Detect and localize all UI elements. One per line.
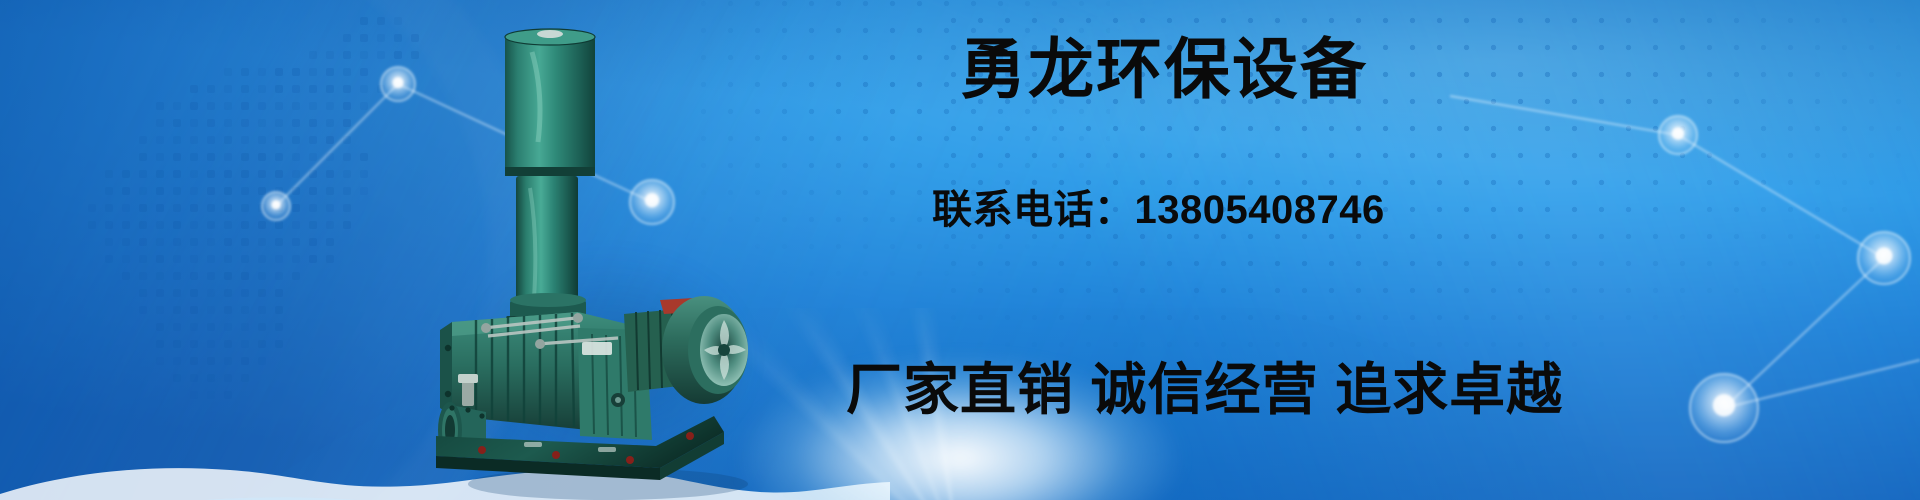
roots-blower-icon [428, 12, 768, 500]
slogan-text: 厂家直销 诚信经营 追求卓越 [846, 362, 1563, 418]
page-title: 勇龙环保设备 [960, 36, 1368, 102]
roots-blower-illustration [428, 12, 768, 500]
contact-phone-line: 联系电话：13805408746 [932, 190, 1385, 230]
promo-banner: 勇龙环保设备 联系电话：13805408746 厂家直销 诚信经营 追求卓越 [0, 0, 1920, 500]
